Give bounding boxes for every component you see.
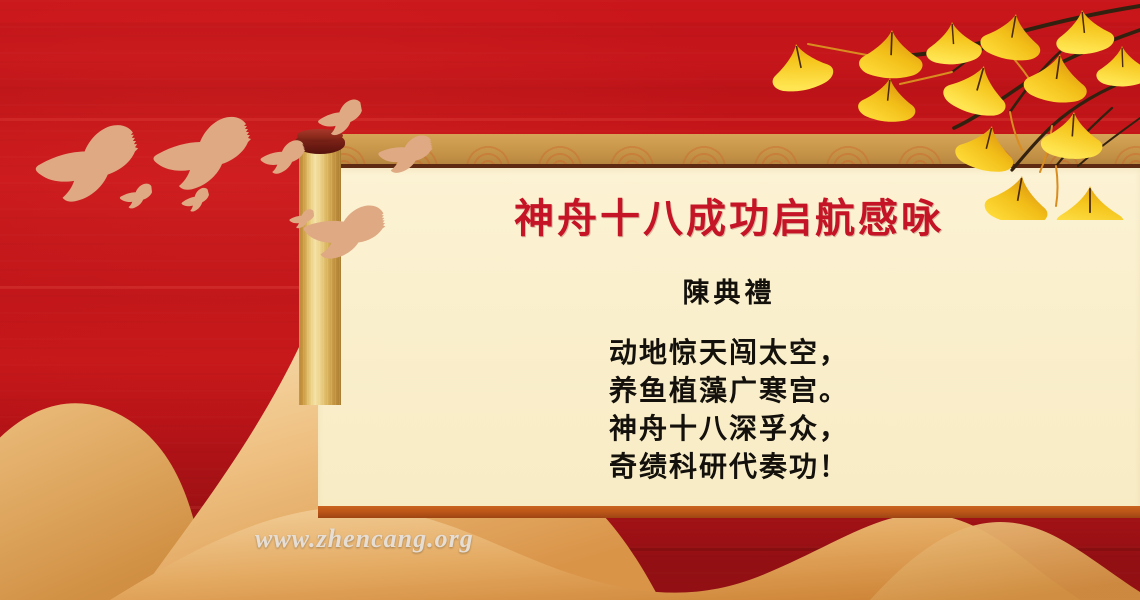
scroll-bottom-edge [318,506,1140,518]
dove-on-roller-cap [312,98,382,144]
poem-line-4: 奇绩科研代奏功！ [318,448,1140,486]
poem-line-3: 神舟十八深孚众， [318,410,1140,448]
watermark: www.zhencang.org [255,524,474,554]
poem-author: 陳典禮 [318,271,1140,310]
poem-line-1: 动地惊天闯太空， [318,334,1140,372]
poem-body: 动地惊天闯太空， 养鱼植藻广寒宫。 神舟十八深孚众， 奇绩科研代奏功！ [318,334,1140,486]
page-title: 神舟十八成功启航感咏 [318,186,1140,244]
poster-canvas: 神舟十八成功启航感咏 陳典禮 动地惊天闯太空， 养鱼植藻广寒宫。 神舟十八深孚众… [0,0,1140,600]
poem-line-2: 养鱼植藻广寒宫。 [318,372,1140,410]
